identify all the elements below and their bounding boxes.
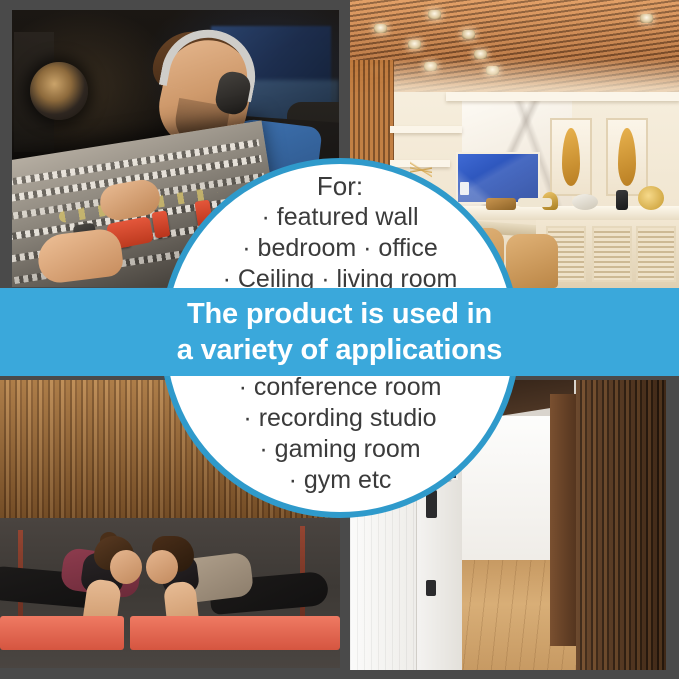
- ceiling-spotlight: [462, 30, 475, 39]
- circle-top-line-1: · featured wall: [166, 202, 514, 233]
- hallway-slat-wall: [576, 380, 666, 670]
- cabinet-louver-door: [592, 226, 632, 282]
- person-left-head: [110, 550, 142, 584]
- circle-top-line-2: · bedroom · office: [166, 233, 514, 264]
- counter-glass-sphere: [638, 186, 664, 210]
- ceiling-spotlight: [640, 14, 653, 23]
- circle-bottom-line-1: · conference room: [166, 372, 514, 403]
- circle-bottom-line-4: · gym etc: [166, 465, 514, 496]
- headline-line-2: a variety of applications: [177, 332, 502, 368]
- counter-speaker: [616, 190, 628, 210]
- door-lower-lock-icon: [426, 580, 436, 596]
- counter-books: [518, 198, 552, 207]
- wall-shelf: [390, 126, 462, 133]
- counter-glass-bowl: [572, 194, 598, 210]
- circle-bottom-line-3: · gaming room: [166, 434, 514, 465]
- studio-monitor-speaker: [30, 62, 88, 120]
- circle-top-text-block: For: · featured wall · bedroom · office …: [166, 171, 514, 295]
- circle-bottom-line-2: · recording studio: [166, 403, 514, 434]
- cabinet-louver-door: [636, 226, 676, 282]
- ceiling-spotlight: [428, 10, 441, 19]
- exercise-mat: [0, 616, 124, 650]
- headline-line-1: The product is used in: [177, 296, 502, 332]
- circle-heading: For:: [166, 171, 514, 202]
- circle-bottom-text-block: · conference room · recording studio · g…: [166, 372, 514, 496]
- headline-text-block: The product is used in a variety of appl…: [177, 296, 502, 368]
- wall-shelf: [446, 92, 679, 101]
- person-right-head: [146, 550, 178, 584]
- exercise-mat: [130, 616, 340, 650]
- product-infographic: For: · featured wall · bedroom · office …: [0, 0, 679, 679]
- ceiling-spotlight: [374, 24, 387, 33]
- ceiling-spotlight: [408, 40, 421, 49]
- headline-banner: The product is used in a variety of appl…: [0, 288, 679, 376]
